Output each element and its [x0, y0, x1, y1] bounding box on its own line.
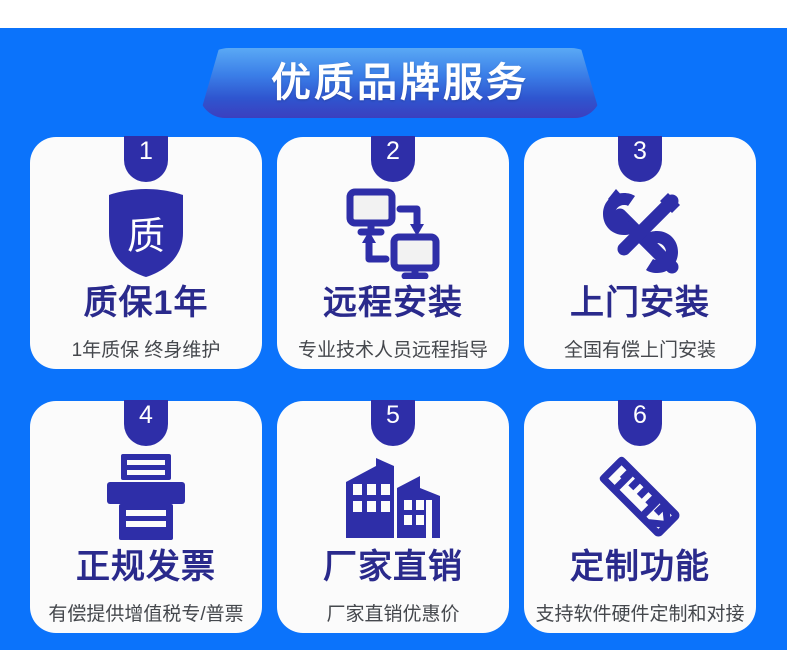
card-title: 远程安装 [277, 285, 509, 322]
card-number: 5 [386, 402, 400, 428]
card-number-badge: 2 [371, 136, 415, 182]
card-subtitle: 全国有偿上门安装 [524, 340, 756, 362]
card-number-badge: 1 [124, 136, 168, 182]
card-subtitle: 厂家直销优惠价 [277, 604, 509, 626]
card-subtitle: 支持软件硬件定制和对接 [524, 604, 756, 626]
svg-text:质: 质 [127, 216, 165, 258]
service-card-factory-direct[interactable]: 5 [277, 401, 509, 633]
card-number: 4 [139, 402, 153, 428]
card-number: 6 [633, 402, 647, 428]
factory-buildings-icon [277, 449, 509, 545]
header-banner [199, 48, 601, 118]
card-subtitle: 1年质保 终身维护 [30, 340, 262, 362]
crossed-wrench-screwdriver-icon [524, 185, 756, 281]
service-card-remote-install[interactable]: 2 远程安装 专业技术人员远程指导 [277, 137, 509, 369]
card-number-badge: 6 [618, 400, 662, 446]
card-subtitle: 有偿提供增值税专/普票 [30, 604, 262, 626]
printer-invoice-icon [30, 449, 262, 545]
card-subtitle: 专业技术人员远程指导 [277, 340, 509, 362]
two-monitors-remote-icon [277, 185, 509, 281]
ruler-pencil-custom-icon [524, 449, 756, 545]
card-title: 上门安装 [524, 285, 756, 322]
card-number: 2 [386, 138, 400, 164]
card-number-badge: 4 [124, 400, 168, 446]
card-number: 1 [139, 138, 153, 164]
card-number-badge: 5 [371, 400, 415, 446]
card-title: 质保1年 [30, 285, 262, 322]
service-card-custom-function[interactable]: 6 [524, 401, 756, 633]
shield-quality-icon: 质 [30, 185, 262, 281]
service-card-quality-warranty[interactable]: 1 质 质保1年 1年质保 终身维护 [30, 137, 262, 369]
card-title: 定制功能 [524, 549, 756, 586]
service-card-invoice[interactable]: 4 正规发票 有偿提供增值税专/普票 [30, 401, 262, 633]
card-number-badge: 3 [618, 136, 662, 182]
card-title: 正规发票 [30, 549, 262, 586]
service-cards-grid: 1 质 质保1年 1年质保 终身维护 2 [30, 137, 757, 637]
card-number: 3 [633, 138, 647, 164]
card-title: 厂家直销 [277, 549, 509, 586]
promo-service-banner-page: 优质品牌服务 1 质 质保1年 1年质保 终身维护 2 [0, 0, 787, 650]
service-card-onsite-install[interactable]: 3 [524, 137, 756, 369]
